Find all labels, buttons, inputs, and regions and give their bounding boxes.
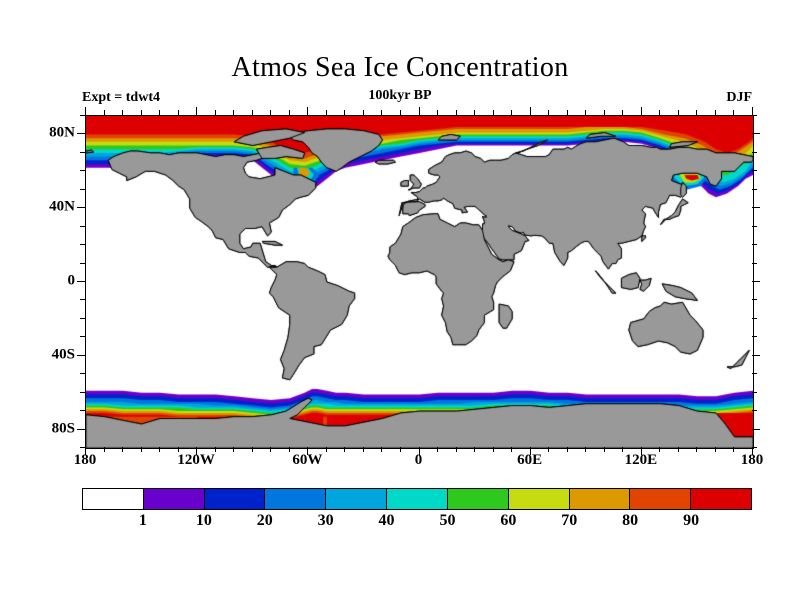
colorbar-swatch: [144, 489, 205, 509]
y-axis-tick-right: [752, 263, 757, 264]
y-axis-tick-right: [752, 355, 760, 356]
colorbar-tick-label: 30: [318, 512, 334, 530]
x-axis-tick-top: [493, 110, 494, 115]
y-axis-tick: [80, 152, 85, 153]
colorbar-swatch: [509, 489, 570, 509]
x-axis-tick: [326, 447, 327, 452]
x-axis-tick: [252, 447, 253, 452]
y-axis-label: 40S: [52, 346, 75, 363]
y-axis-tick: [80, 373, 85, 374]
x-axis-tick-top: [141, 110, 142, 115]
x-axis-tick-top: [641, 107, 642, 115]
colorbar-tick-label: 80: [622, 512, 638, 530]
x-axis-tick-top: [215, 110, 216, 115]
colorbar-tick-label: 1: [139, 512, 147, 530]
y-axis-tick-right: [752, 281, 760, 282]
x-axis-tick-top: [456, 110, 457, 115]
x-axis-tick: [567, 447, 568, 452]
x-axis-tick-top: [178, 110, 179, 115]
y-axis-tick: [80, 299, 85, 300]
y-axis-tick: [77, 133, 85, 134]
x-axis-tick-top: [104, 110, 105, 115]
x-axis-tick: [233, 447, 234, 452]
y-axis-tick: [80, 410, 85, 411]
x-axis-tick: [659, 447, 660, 452]
colorbar: [82, 488, 752, 510]
colorbar-swatch: [691, 489, 751, 509]
y-axis-tick: [80, 392, 85, 393]
y-axis-tick: [77, 281, 85, 282]
colorbar-swatch: [83, 489, 144, 509]
y-axis-label: 80S: [52, 420, 75, 437]
x-axis-tick-top: [233, 110, 234, 115]
y-axis-tick: [80, 263, 85, 264]
y-axis-tick-right: [752, 244, 757, 245]
x-axis-tick-top: [585, 110, 586, 115]
y-axis-tick-right: [752, 207, 760, 208]
y-axis-tick-right: [752, 299, 757, 300]
x-axis-tick-top: [474, 110, 475, 115]
y-axis-tick-right: [752, 373, 757, 374]
x-axis-tick-top: [437, 110, 438, 115]
y-axis-tick-right: [752, 429, 760, 430]
x-axis-tick: [363, 447, 364, 452]
y-axis-tick: [80, 170, 85, 171]
x-axis-tick-top: [604, 110, 605, 115]
y-axis-tick-right: [752, 318, 757, 319]
x-axis-tick: [604, 447, 605, 452]
x-axis-tick: [122, 447, 123, 452]
x-axis-tick-top: [548, 110, 549, 115]
x-axis-tick: [381, 447, 382, 452]
x-axis-tick: [474, 447, 475, 452]
x-axis-label: 0: [415, 452, 423, 469]
x-axis-tick: [270, 447, 271, 452]
y-axis-tick-right: [752, 170, 757, 171]
colorbar-swatch: [205, 489, 266, 509]
y-axis-tick: [80, 318, 85, 319]
x-axis-tick-top: [196, 107, 197, 115]
page-title: Atmos Sea Ice Concentration: [0, 52, 800, 84]
y-axis-tick-right: [752, 133, 760, 134]
x-axis-tick-top: [252, 110, 253, 115]
x-axis-tick-top: [622, 110, 623, 115]
colorbar-tick-label: 70: [561, 512, 577, 530]
x-axis-tick-top: [715, 110, 716, 115]
colorbar-swatch: [265, 489, 326, 509]
x-axis-tick-top: [733, 110, 734, 115]
y-axis-tick-right: [752, 392, 757, 393]
colorbar-swatch: [630, 489, 691, 509]
colorbar-swatch: [326, 489, 387, 509]
x-axis-tick-top: [122, 110, 123, 115]
x-axis-tick-top: [307, 107, 308, 115]
x-axis-tick-top: [270, 110, 271, 115]
map-plot-area: [85, 115, 754, 449]
colorbar-tick-label: 10: [196, 512, 212, 530]
x-axis-label: 120E: [625, 452, 658, 469]
experiment-label: Expt = tdwt4: [82, 90, 160, 106]
y-axis-tick-right: [752, 410, 757, 411]
x-axis-tick-top: [344, 110, 345, 115]
y-axis-tick-right: [752, 226, 757, 227]
x-axis-tick-top: [511, 110, 512, 115]
y-axis-tick: [80, 336, 85, 337]
x-axis-tick-top: [419, 107, 420, 115]
x-axis-tick-top: [326, 110, 327, 115]
y-axis-tick-right: [752, 336, 757, 337]
x-axis-tick: [289, 447, 290, 452]
y-axis-tick: [80, 244, 85, 245]
y-axis-tick-right: [752, 189, 757, 190]
x-axis-tick: [696, 447, 697, 452]
y-axis-tick: [80, 447, 85, 448]
colorbar-swatch: [570, 489, 631, 509]
x-axis-label: 120W: [177, 452, 215, 469]
colorbar-tick-label: 60: [500, 512, 516, 530]
y-axis-label: 80N: [49, 125, 75, 142]
y-axis-tick: [77, 355, 85, 356]
x-axis-tick-top: [696, 110, 697, 115]
x-axis-tick-top: [400, 110, 401, 115]
x-axis-tick-top: [567, 110, 568, 115]
x-axis-tick: [715, 447, 716, 452]
x-axis-tick-top: [381, 110, 382, 115]
x-axis-tick: [678, 447, 679, 452]
x-axis-tick-top: [363, 110, 364, 115]
x-axis-label: 60W: [292, 452, 322, 469]
season-label: DJF: [726, 90, 752, 106]
x-axis-tick: [733, 447, 734, 452]
y-axis-tick: [77, 429, 85, 430]
x-axis-tick: [437, 447, 438, 452]
y-axis-tick: [80, 226, 85, 227]
x-axis-tick-top: [85, 107, 86, 115]
x-axis-tick: [400, 447, 401, 452]
colorbar-swatch: [448, 489, 509, 509]
x-axis-tick: [104, 447, 105, 452]
x-axis-tick-top: [289, 110, 290, 115]
colorbar-swatch: [387, 489, 448, 509]
y-axis-tick: [77, 207, 85, 208]
x-axis-tick: [344, 447, 345, 452]
colorbar-tick-label: 50: [439, 512, 455, 530]
x-axis-tick: [511, 447, 512, 452]
y-axis-tick-right: [752, 115, 757, 116]
x-axis-tick: [456, 447, 457, 452]
x-axis-label: 180: [74, 452, 97, 469]
x-axis-tick-top: [530, 107, 531, 115]
x-axis-tick-top: [678, 110, 679, 115]
x-axis-tick-top: [159, 110, 160, 115]
x-axis-tick: [141, 447, 142, 452]
x-axis-tick: [548, 447, 549, 452]
x-axis-tick: [622, 447, 623, 452]
y-axis-tick-right: [752, 152, 757, 153]
x-axis-tick-top: [752, 107, 753, 115]
y-axis-tick: [80, 189, 85, 190]
colorbar-tick-label: 20: [257, 512, 273, 530]
x-axis-tick-top: [659, 110, 660, 115]
sea-ice-concentration-map: [86, 116, 753, 448]
colorbar-tick-label: 90: [683, 512, 699, 530]
x-axis-tick: [585, 447, 586, 452]
x-axis-tick: [159, 447, 160, 452]
colorbar-tick-label: 40: [379, 512, 395, 530]
y-axis-tick: [80, 115, 85, 116]
y-axis-label: 0: [68, 273, 76, 290]
y-axis-label: 40N: [49, 199, 75, 216]
x-axis-tick: [493, 447, 494, 452]
y-axis-tick-right: [752, 447, 757, 448]
x-axis-label: 60E: [517, 452, 542, 469]
x-axis-label: 180: [741, 452, 764, 469]
